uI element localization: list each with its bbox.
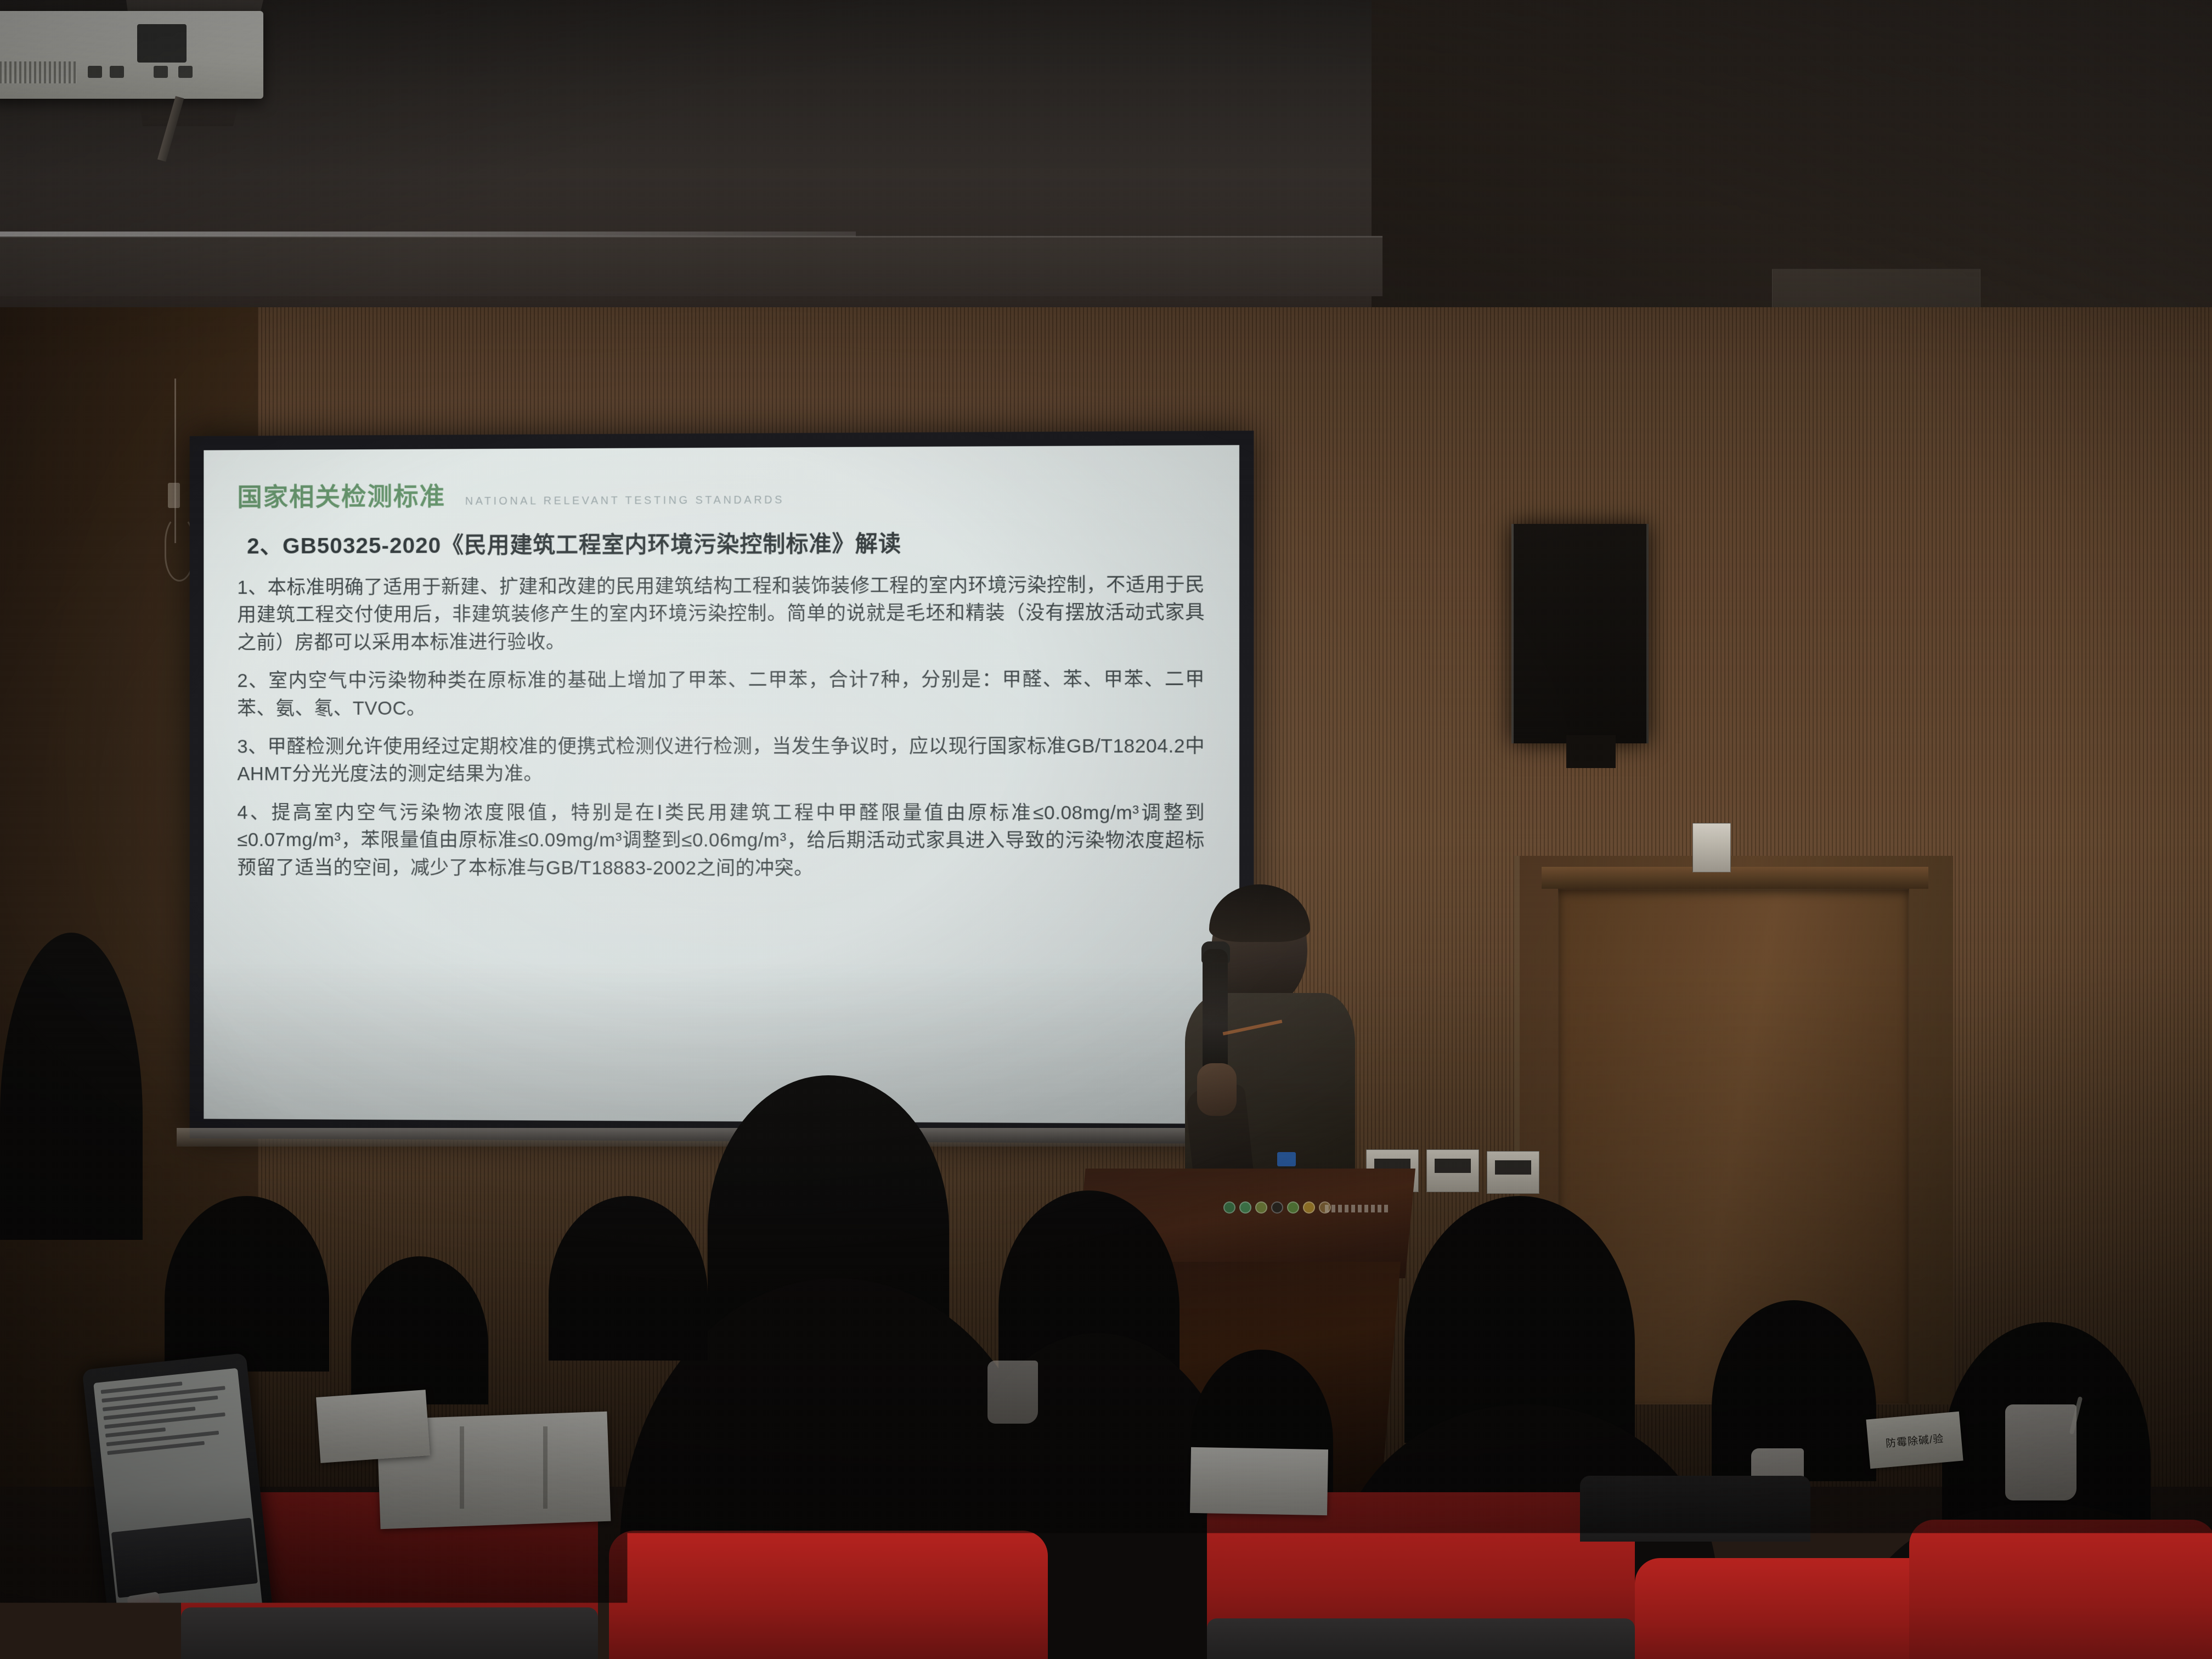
ceiling-soffit-upper (0, 236, 1383, 296)
projector-button[interactable] (154, 66, 168, 78)
podium-logo-wordmark (1325, 1205, 1388, 1212)
projector-vent-grill (0, 61, 77, 83)
slide-header-subtitle-en: NATIONAL RELEVANT TESTING STANDARDS (465, 494, 785, 507)
paper-fold-line (460, 1426, 464, 1509)
wall-sign-label: 防霉除碱/验 (1885, 1430, 1944, 1450)
slide-header-title-zh: 国家相关检测标准 (237, 476, 445, 513)
light-switch-plate[interactable] (1487, 1151, 1539, 1194)
presentation-slide: 国家相关检测标准 NATIONAL RELEVANT TESTING STAND… (204, 445, 1239, 1124)
projection-screen-bottom-bar (177, 1128, 1260, 1147)
paper-handout[interactable] (316, 1390, 430, 1463)
wall-outlet[interactable] (1692, 823, 1731, 872)
paper-handout[interactable] (1190, 1447, 1328, 1515)
loudspeaker-bracket (1566, 735, 1616, 768)
microphone-icon (1203, 949, 1228, 1075)
slide-paragraph-2: 2、室内空气中污染物种类在原标准的基础上增加了甲苯、二甲苯，合计7种，分别是：甲… (237, 666, 1205, 723)
podium-logo-dots (1223, 1201, 1331, 1214)
cable-clip (168, 483, 180, 508)
slide-title: 2、GB50325-2020《民用建筑工程室内环境污染控制标准》解读 (247, 524, 1205, 560)
wall-mounted-loudspeaker (1511, 524, 1649, 743)
projector-button[interactable] (110, 66, 124, 78)
auditorium-seat[interactable] (1909, 1520, 2212, 1659)
slide-paragraph-3: 3、甲醛检测允许使用经过定期校准的便携式检测仪进行检测，当发生争议时，应以现行国… (237, 732, 1205, 788)
projector-button[interactable] (178, 66, 193, 78)
presenter-hair (1209, 884, 1310, 942)
presenter-hand (1197, 1063, 1237, 1116)
tablet-screen[interactable] (93, 1368, 267, 1659)
projector-icon (0, 11, 263, 99)
light-switch-plate[interactable] (1426, 1149, 1479, 1192)
slide-paragraph-4: 4、提高室内空气污染物浓度限值，特别是在Ⅰ类民用建筑工程中甲醛限量值由原标准≤0… (237, 799, 1205, 883)
projector-lens-icon (137, 24, 187, 63)
projection-screen: 国家相关检测标准 NATIONAL RELEVANT TESTING STAND… (190, 431, 1254, 1144)
auditorium-seat[interactable] (1635, 1558, 1942, 1659)
tablet-device[interactable] (82, 1353, 278, 1659)
face-mask (2005, 1404, 2076, 1500)
auditorium-seat[interactable] (609, 1531, 1048, 1659)
presenter-badge (1277, 1152, 1296, 1166)
slide-header: 国家相关检测标准 NATIONAL RELEVANT TESTING STAND… (237, 473, 1205, 513)
wall-sign: 防霉除碱/验 (1866, 1412, 1963, 1469)
paper-fold-line (543, 1426, 548, 1509)
slide-paragraph-1: 1、本标准明确了适用于新建、扩建和改建的民用建筑结构工程和装饰装修工程的室内环境… (237, 571, 1205, 657)
projector-button[interactable] (88, 66, 102, 78)
auditorium-seat-base (1207, 1618, 1635, 1659)
door-top-rail (1542, 867, 1928, 889)
lecture-hall-photo: 国家相关检测标准 NATIONAL RELEVANT TESTING STAND… (0, 0, 2212, 1659)
auditorium-seat-base (1580, 1476, 1810, 1542)
face-mask (988, 1361, 1038, 1424)
